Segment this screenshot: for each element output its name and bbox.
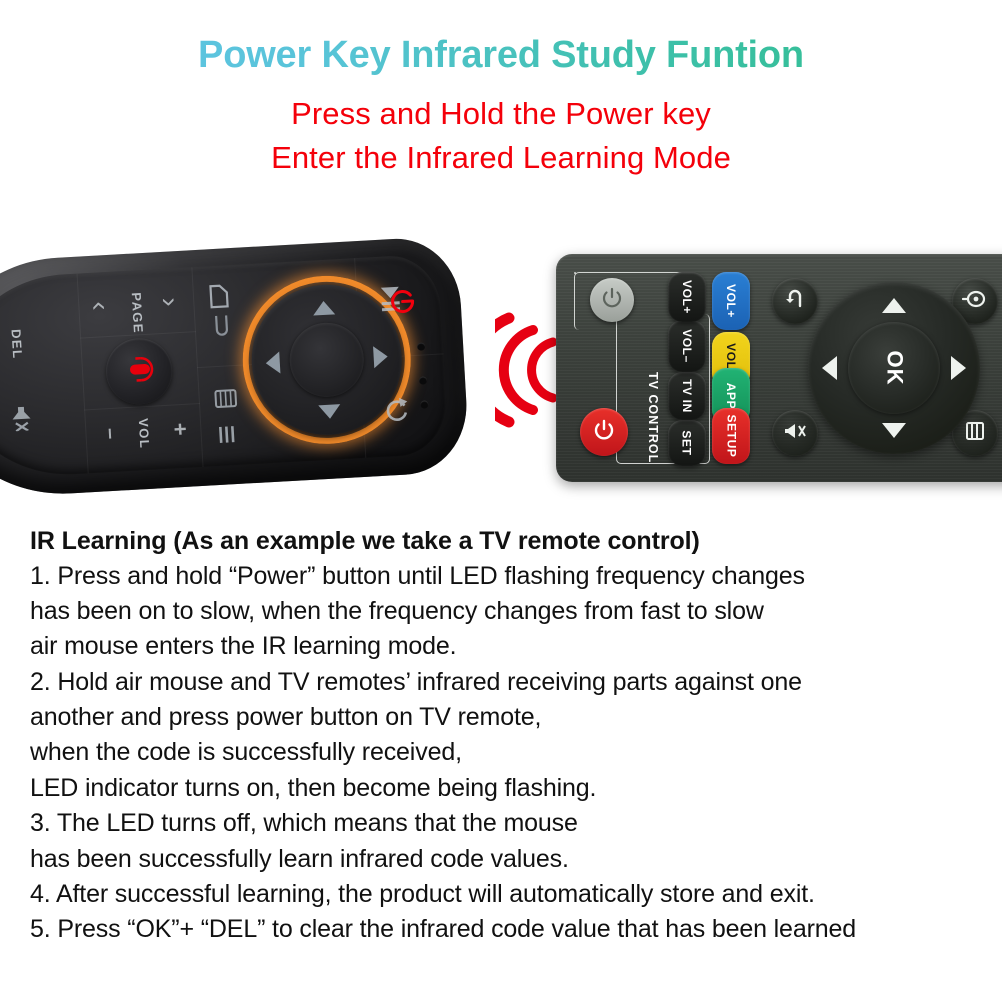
dpad-up-icon[interactable] xyxy=(312,300,335,315)
tv-key-set-label: SET xyxy=(680,430,694,455)
dpad-right-icon[interactable] xyxy=(373,345,388,368)
instruction-line: air mouse enters the IR learning mode. xyxy=(30,629,976,664)
dpad-down-icon[interactable] xyxy=(882,423,906,438)
air-mouse-remote: DEL PAGE ‹ › xyxy=(0,235,470,500)
tv-key-tvin-label: TV IN xyxy=(680,379,694,413)
subtitle-line-1: Press and Hold the Power key xyxy=(0,92,1002,136)
instruction-line: 3. The LED turns off, which means that t… xyxy=(30,806,976,841)
instruction-line: LED indicator turns on, then become bein… xyxy=(30,771,976,806)
dpad-right-icon[interactable] xyxy=(951,356,966,380)
led-indicator xyxy=(417,342,425,350)
tv-remote-control: TV CONTROL SET TV IN VOL– VOL+ VOL+ VOL–… xyxy=(556,254,1002,482)
power-icon xyxy=(593,419,615,446)
tv-key-volume-up-label: VOL+ xyxy=(680,280,694,314)
instructions-block: IR Learning (As an example we take a TV … xyxy=(30,524,976,948)
subtitle-line-2: Enter the Infrared Learning Mode xyxy=(0,136,1002,180)
page-prev-icon[interactable]: ‹ xyxy=(84,301,115,312)
power-button[interactable] xyxy=(580,408,628,456)
instruction-line: another and press power button on TV rem… xyxy=(30,700,976,735)
power-icon[interactable] xyxy=(388,287,418,322)
dpad-up-icon[interactable] xyxy=(882,298,906,313)
volume-down-icon[interactable]: – xyxy=(98,427,122,439)
dpad-left-icon[interactable] xyxy=(822,356,837,380)
instructions-heading: IR Learning (As an example we take a TV … xyxy=(30,524,976,559)
tv-control-label: TV CONTROL xyxy=(646,372,660,463)
instruction-line: when the code is successfully received, xyxy=(30,735,976,770)
back-button[interactable] xyxy=(772,278,818,324)
instruction-line: 5. Press “OK”+ “DEL” to clear the infrar… xyxy=(30,912,976,947)
dpad-down-icon[interactable] xyxy=(318,404,341,419)
airmouse-page-label[interactable]: PAGE xyxy=(129,292,146,334)
led-indicator xyxy=(419,376,427,384)
keyboard-icon[interactable] xyxy=(213,387,238,415)
tv-key-setup-label: SETUP xyxy=(724,414,738,457)
instruction-line: 4. After successful learning, the produc… xyxy=(30,877,976,912)
mute-icon[interactable] xyxy=(6,404,38,437)
tv-key-volume-down-label: VOL– xyxy=(680,329,694,363)
airmouse-vol-label[interactable]: VOL xyxy=(136,418,153,450)
menu-icon[interactable] xyxy=(215,423,240,451)
mouse-power-icon xyxy=(121,355,157,388)
instruction-line: has been successfully learn infrared cod… xyxy=(30,842,976,877)
tv-key-set[interactable]: SET xyxy=(668,420,706,466)
home-icon[interactable] xyxy=(207,283,231,315)
back-icon xyxy=(783,287,807,316)
tv-key-setup[interactable]: SETUP xyxy=(712,408,750,464)
menu-icon xyxy=(964,420,986,447)
tv-key-volume-down[interactable]: VOL– xyxy=(668,320,706,372)
mute-button[interactable] xyxy=(772,410,818,456)
instruction-line: has been on to slow, when the frequency … xyxy=(30,594,976,629)
ok-button-label: OK xyxy=(881,351,907,386)
refresh-icon[interactable] xyxy=(382,395,414,430)
dpad-center-button[interactable] xyxy=(288,321,366,399)
tv-key-color-volume-up[interactable]: VOL+ xyxy=(712,272,750,330)
airmouse-del-label[interactable]: DEL xyxy=(9,329,26,360)
tv-key-volume-up[interactable]: VOL+ xyxy=(668,272,706,322)
tv-key-color-volume-up-label: VOL+ xyxy=(724,284,738,318)
back-icon[interactable] xyxy=(212,313,232,345)
page-next-icon[interactable]: › xyxy=(154,297,185,308)
product-photo-band: DEL PAGE ‹ › xyxy=(0,232,1002,510)
volume-up-icon[interactable]: + xyxy=(166,422,193,436)
instruction-line: 1. Press and hold “Power” button until L… xyxy=(30,559,976,594)
air-mouse-face: DEL PAGE ‹ › xyxy=(0,253,449,480)
subtitle-block: Press and Hold the Power key Enter the I… xyxy=(0,92,1002,180)
ok-button[interactable]: OK xyxy=(848,322,940,414)
tv-dpad[interactable]: OK xyxy=(808,282,980,454)
mouse-power-button[interactable] xyxy=(104,337,174,407)
dpad-left-icon[interactable] xyxy=(265,351,280,374)
tv-control-outline-spacer xyxy=(574,272,576,274)
standby-power-button[interactable] xyxy=(590,278,634,322)
power-icon xyxy=(601,287,623,314)
page-title: Power Key Infrared Study Funtion xyxy=(0,34,1002,78)
led-indicator xyxy=(420,400,428,408)
tv-key-app-label: APP xyxy=(724,383,738,409)
page-header: Power Key Infrared Study Funtion Press a… xyxy=(0,0,1002,180)
source-icon xyxy=(962,287,988,316)
instruction-line: 2. Hold air mouse and TV remotes’ infrar… xyxy=(30,665,976,700)
tv-key-tvin[interactable]: TV IN xyxy=(668,372,706,420)
mute-icon xyxy=(782,420,808,447)
